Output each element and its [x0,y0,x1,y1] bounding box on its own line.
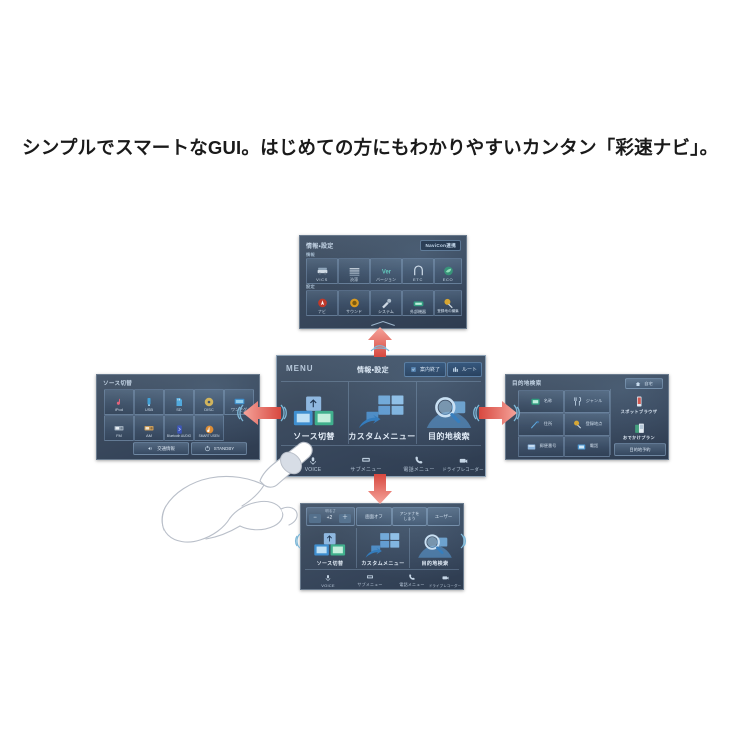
ripple-top-icon [370,344,390,353]
button-drive-recorder-sub[interactable]: ドライブレコーダー [429,571,461,588]
button-label: 自宅 [644,381,652,387]
button-submenu[interactable]: サブメニュー [339,449,393,473]
button-label: 目的地予約 [630,447,651,453]
custom-menu-icon [363,532,403,560]
tile-address[interactable]: 住所 [518,413,564,436]
tile-smart-usen[interactable]: SMART USEN [194,415,224,441]
ripple-right-icon [512,403,521,423]
tile-label: ECO [443,278,453,282]
destination-search-icon [425,394,473,431]
destination-search-icon [416,532,454,560]
button-phone-menu[interactable]: 電話メニュー [395,449,443,473]
tile-phone-search[interactable]: 電話 [564,436,610,457]
pointing-hand-illustration [150,440,325,555]
ripple-submenu-right-icon [459,533,467,549]
tile-genre[interactable]: ジャンル [564,390,610,413]
badge-navicon[interactable]: NaviCon連携 [420,240,461,251]
divider-sub-bottom [305,569,459,570]
tile-ipod[interactable]: iPod [104,389,134,415]
system-icon [380,297,393,310]
tile-label: 渋滞 [350,278,358,282]
brightness-plus-button[interactable]: ＋ [339,514,351,523]
button-antenna-store[interactable]: アンテナを しまう [392,507,427,526]
button-label: ルート [462,366,477,373]
ripple-center-right-icon [472,403,481,423]
panel-menu-title: MENU [286,364,314,373]
tile-label: 登録地の編集 [437,310,459,314]
divider-side [610,389,611,455]
tile-postal-code[interactable]: 郵便番号 [518,436,564,457]
genre-icon [572,396,583,407]
tile-navi[interactable]: ナビ [306,290,338,316]
button-destination-search-sub[interactable]: 目的地検索 [413,529,457,567]
button-guide-end[interactable]: 案内終了 [404,362,446,377]
button-home[interactable]: 自宅 [625,378,663,389]
tile-label: AM [146,434,152,438]
route-icon [452,366,459,373]
panel-info-settings-title: 情報・設定 [306,241,334,250]
button-user[interactable]: ユーザー [427,507,460,526]
outing-plan-icon [633,422,646,435]
tile-label: 郵便番号 [540,444,557,448]
button-label: ユーザー [435,514,452,520]
tile-vics[interactable]: VICS [306,258,338,284]
button-label: おでかけプラン [623,435,655,441]
button-screen-off[interactable]: 画面オフ [356,507,392,526]
panel-destination-search[interactable]: 目的地検索 自宅 名称 ジャンル [505,374,669,460]
button-reserve[interactable]: 目的地予約 [614,443,666,456]
custom-menu-icon [356,394,408,431]
tile-label: 登録地点 [586,422,603,426]
tile-saved-point[interactable]: 登録地点 [564,413,610,436]
button-voice-sub[interactable]: VOICE [310,571,346,588]
mic-icon [324,574,332,582]
button-label: ソース切替 [317,560,344,567]
button-label: ドライブレコーダー [429,583,461,588]
button-drive-recorder[interactable]: ドライブレコーダー [443,449,483,473]
panel-handle-icon [370,320,396,327]
divider-sub-col-2 [409,528,410,568]
drive-recorder-icon [441,574,450,582]
button-label: 案内終了 [420,366,440,373]
button-label: アンテナを しまう [400,512,420,521]
eco-icon [442,265,455,278]
tile-usb[interactable]: USB [134,389,164,415]
tile-sound[interactable]: サウンド [338,290,370,316]
saved-point-icon [572,419,583,430]
button-label: 画面オフ [365,514,383,520]
tile-label: 外部機器 [410,310,426,314]
phone-search-icon [576,442,587,452]
divider-sub-col-1 [356,528,357,568]
guide-end-icon [410,366,417,373]
button-spot-browser[interactable]: スポットブラウザ [614,389,664,415]
address-icon [530,419,541,430]
tile-label: DISC [204,408,214,412]
tile-am[interactable]: AM [134,415,164,441]
tile-label: ナビ [318,310,326,314]
vics-icon [316,265,329,278]
tile-traffic[interactable]: 渋滞 [338,258,370,284]
external-device-icon [412,297,425,310]
traffic-icon [348,265,361,278]
etc-icon [412,265,425,278]
tile-label: 名称 [544,399,552,403]
button-custom-menu-sub[interactable]: カスタムメニュー [360,529,406,567]
tile-label: Bluetooth AUDIO [167,435,191,438]
navi-icon [316,297,329,310]
button-label: 電話メニュー [403,466,434,473]
arrow-down-to-submenu [366,474,394,504]
button-label: 目的地検索 [421,560,448,567]
label-info-settings[interactable]: 情報・設定 [357,365,389,375]
button-label: スポットブラウザ [621,409,658,415]
button-label: ドライブレコーダー [442,467,483,473]
tile-label: SD [176,408,182,412]
phone-icon [408,573,416,581]
ripple-left-icon [236,403,245,423]
name-search-icon [530,396,541,407]
submenu-icon [365,573,375,581]
tile-eco[interactable]: ECO [434,258,462,284]
button-label: カスタムメニュー [361,560,404,567]
button-label: 電話メニュー [399,582,424,588]
drive-recorder-icon [458,456,469,466]
tile-label: SMART USEN [199,435,220,438]
button-source-switch[interactable]: ソース切替 [287,386,341,442]
button-destination-search[interactable]: 目的地検索 [421,386,477,442]
panel-source-select-title: ソース切替 [103,379,132,387]
tile-label: FM [116,434,122,438]
button-label: サブメニュー [357,582,382,588]
divider-col-2 [416,382,417,444]
button-route[interactable]: ルート [447,362,482,377]
submenu-icon [360,455,372,465]
button-label: 目的地検索 [428,431,470,442]
version-icon: Ver [380,265,393,278]
svg-text:Ver: Ver [381,269,391,275]
sound-icon [348,297,361,310]
ripple-center-left-icon [279,403,288,423]
tile-label: iPod [115,408,123,412]
home-icon [635,381,641,387]
button-phone-menu-sub[interactable]: 電話メニュー [393,571,431,588]
gui-flow-diagram: 情報・設定 NaviCon連携 情報 VICS 渋滞 Ver バージョン [0,0,750,750]
spot-browser-icon [633,394,645,409]
tile-label: ジャンル [586,399,603,403]
tile-external-device[interactable]: 外部機器 [402,290,434,316]
tile-label: システム [378,310,394,314]
postal-code-icon [526,442,537,452]
button-label: VOICE [321,583,334,588]
tile-label: ETC [413,278,423,282]
tile-label: 電話 [590,444,598,448]
divider-top [281,381,481,382]
tile-label: 住所 [544,422,552,426]
tile-bluetooth-audio[interactable]: Bluetooth AUDIO [164,415,194,441]
arrow-left-to-source [243,400,281,426]
tile-label: USB [145,408,153,412]
button-outing-plan[interactable]: おでかけプラン [614,417,664,441]
tile-sd[interactable]: SD [164,389,194,415]
tile-label: バージョン [376,278,396,282]
tile-fm[interactable]: FM [104,415,134,441]
button-label: カスタムメニュー [348,431,415,442]
tile-label: VICS [316,278,328,282]
tile-etc[interactable]: ETC [402,258,434,284]
panel-destination-search-title: 目的地検索 [512,379,541,387]
tile-version[interactable]: Ver バージョン [370,258,402,284]
phone-icon [414,455,424,465]
panel-info-settings[interactable]: 情報・設定 NaviCon連携 情報 VICS 渋滞 Ver バージョン [299,235,467,329]
button-custom-menu[interactable]: カスタムメニュー [353,386,411,442]
tile-edit-point[interactable]: 登録地の編集 [434,290,462,316]
tile-name-search[interactable]: 名称 [518,390,564,413]
tile-disc[interactable]: DISC [194,389,224,415]
source-switch-icon [291,395,337,431]
tile-label: サウンド [346,310,362,314]
tile-system[interactable]: システム [370,290,402,316]
button-submenu-sub[interactable]: サブメニュー [349,571,391,588]
button-label: サブメニュー [350,466,381,473]
